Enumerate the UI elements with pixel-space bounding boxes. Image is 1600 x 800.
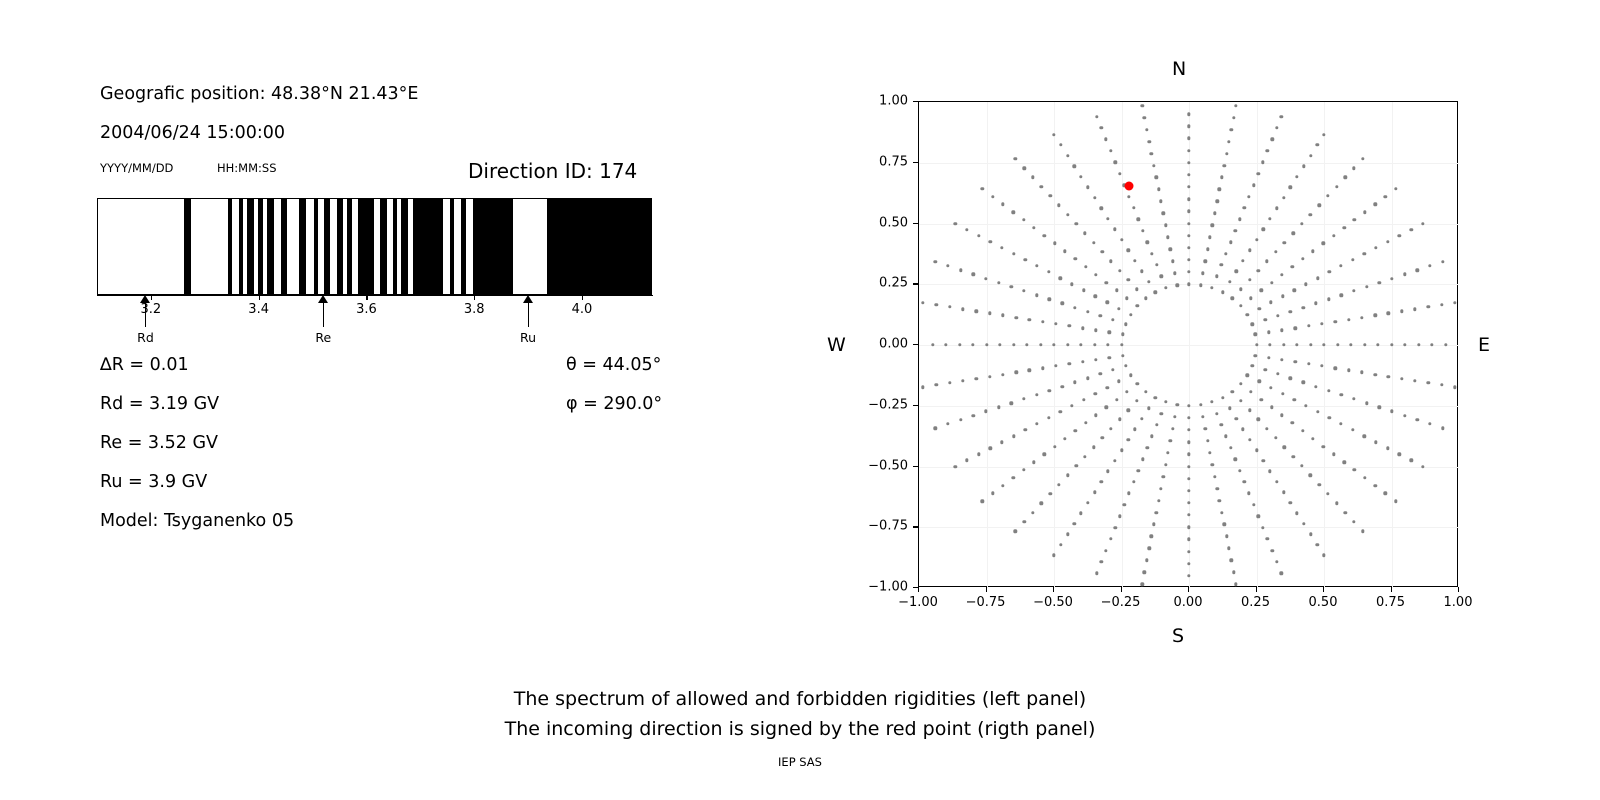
- geographic-position-label: Geografic position: 48.38°N 21.43°E: [100, 84, 418, 104]
- direction-point: [1113, 459, 1116, 462]
- direction-point: [965, 228, 968, 231]
- direction-point: [1280, 358, 1283, 361]
- direction-point: [1309, 533, 1312, 536]
- direction-point: [1100, 126, 1103, 129]
- direction-point: [1152, 164, 1155, 167]
- direction-point: [988, 312, 991, 315]
- direction-point: [1403, 273, 1406, 276]
- direction-point: [1231, 297, 1234, 300]
- direction-point: [1022, 289, 1025, 292]
- forbidden-band: [324, 199, 330, 294]
- direction-point: [1294, 326, 1297, 329]
- direction-point: [1140, 583, 1143, 586]
- direction-point: [1225, 535, 1228, 538]
- direction-point: [1361, 529, 1364, 532]
- compass-label-south: S: [1172, 625, 1184, 647]
- direction-point: [1146, 446, 1149, 449]
- direction-point: [965, 459, 968, 462]
- direction-point: [1187, 197, 1190, 200]
- direction-point: [1270, 549, 1273, 552]
- direction-point: [1074, 222, 1077, 225]
- param-re: Re = 3.52 GV: [100, 433, 218, 453]
- param-delta-r: ∆R = 0.01: [100, 355, 189, 375]
- direction-point: [1243, 480, 1246, 483]
- direction-point: [975, 377, 978, 380]
- direction-point: [1257, 307, 1260, 310]
- param-phi: φ = 290.0°: [566, 394, 662, 414]
- polar-x-tick-label: −0.75: [966, 595, 1006, 610]
- direction-point: [1104, 138, 1107, 141]
- direction-point: [1187, 210, 1190, 213]
- direction-point: [1173, 272, 1176, 275]
- marker-arrow-ru: [523, 295, 534, 327]
- polar-x-tick-label: −0.25: [1101, 595, 1141, 610]
- direction-point: [1073, 306, 1076, 309]
- direction-point: [1300, 222, 1303, 225]
- direction-point: [1249, 296, 1252, 299]
- direction-point: [1159, 487, 1162, 490]
- direction-point: [1048, 389, 1051, 392]
- direction-point: [1054, 322, 1057, 325]
- direction-point: [1159, 200, 1162, 203]
- direction-point: [1421, 465, 1424, 468]
- direction-point: [1121, 333, 1124, 336]
- direction-point: [1150, 535, 1153, 538]
- spectrum-tick-label: 4.0: [572, 302, 593, 317]
- direction-point: [1441, 260, 1444, 263]
- direction-point: [1222, 523, 1225, 526]
- direction-point: [1066, 474, 1069, 477]
- direction-point: [1215, 275, 1218, 278]
- direction-point: [1394, 187, 1397, 190]
- direction-point: [1109, 537, 1112, 540]
- direction-point: [1386, 240, 1389, 243]
- direction-point: [1041, 320, 1044, 323]
- direction-point: [1440, 383, 1443, 386]
- direction-point: [1352, 289, 1355, 292]
- polar-x-tick: [918, 587, 919, 592]
- direction-point: [1106, 343, 1109, 346]
- polar-y-tick: [913, 162, 918, 163]
- direction-point: [1262, 228, 1265, 231]
- direction-point: [1211, 224, 1214, 227]
- direction-point: [1307, 324, 1310, 327]
- direction-point: [1187, 161, 1190, 164]
- direction-point: [1135, 399, 1138, 402]
- direction-point: [1280, 115, 1283, 118]
- direction-point: [1208, 236, 1211, 239]
- direction-point: [1413, 307, 1416, 310]
- direction-point: [1317, 204, 1320, 207]
- forbidden-band: [281, 199, 287, 294]
- direction-point: [1043, 453, 1046, 456]
- direction-point: [1094, 295, 1097, 298]
- direction-point: [1000, 246, 1003, 249]
- direction-point: [1417, 343, 1420, 346]
- direction-point: [1187, 440, 1190, 443]
- direction-point: [1280, 414, 1283, 417]
- direction-point: [1390, 343, 1393, 346]
- direction-point: [1220, 176, 1223, 179]
- direction-point: [1229, 559, 1232, 562]
- direction-point: [1263, 368, 1266, 371]
- direction-point: [1105, 301, 1108, 304]
- direction-point: [1387, 375, 1390, 378]
- direction-point: [1427, 381, 1430, 384]
- polar-y-tick-label: −0.25: [868, 397, 908, 412]
- direction-point: [1282, 343, 1285, 346]
- direction-point: [980, 499, 983, 502]
- direction-point: [1275, 480, 1278, 483]
- direction-point: [1247, 195, 1250, 198]
- direction-point: [1328, 270, 1331, 273]
- direction-point: [1384, 492, 1387, 495]
- direction-point: [958, 343, 961, 346]
- direction-point: [1066, 533, 1069, 536]
- forbidden-band: [247, 199, 254, 294]
- direction-point: [953, 465, 956, 468]
- direction-point: [1048, 194, 1051, 197]
- direction-point: [1166, 451, 1169, 454]
- direction-point: [1032, 226, 1035, 229]
- direction-point: [1137, 218, 1140, 221]
- direction-point: [1373, 314, 1376, 317]
- direction-point: [944, 343, 947, 346]
- direction-point: [1040, 502, 1043, 505]
- direction-point: [1039, 343, 1042, 346]
- direction-point: [1283, 446, 1286, 449]
- polar-y-tick-label: 0.25: [879, 276, 908, 291]
- direction-point: [1342, 460, 1345, 463]
- direction-point: [1127, 278, 1130, 281]
- direction-point: [1400, 310, 1403, 313]
- forbidden-band: [258, 199, 263, 294]
- forbidden-band: [267, 199, 273, 294]
- direction-point: [1014, 529, 1017, 532]
- direction-point: [1270, 138, 1273, 141]
- direction-point: [1248, 408, 1251, 411]
- direction-point: [1255, 238, 1258, 241]
- direction-point: [1351, 258, 1354, 261]
- direction-point: [1187, 465, 1190, 468]
- direction-point: [1147, 280, 1150, 283]
- direction-point: [1144, 390, 1147, 393]
- direction-point: [1361, 157, 1364, 160]
- direction-point: [1066, 343, 1069, 346]
- forbidden-band: [413, 199, 443, 294]
- polar-x-tick-label: 0.50: [1309, 595, 1338, 610]
- direction-point: [1326, 492, 1329, 495]
- direction-point: [1011, 476, 1014, 479]
- direction-point: [1187, 173, 1190, 176]
- direction-point: [1248, 438, 1251, 441]
- direction-point: [1094, 358, 1097, 361]
- forbidden-band: [461, 199, 466, 294]
- forbidden-band: [473, 199, 513, 294]
- direction-point: [1084, 265, 1087, 268]
- direction-point: [1376, 343, 1379, 346]
- param-model: Model: Tsyganenko 05: [100, 511, 294, 531]
- direction-point: [1070, 404, 1073, 407]
- direction-point: [1100, 560, 1103, 563]
- direction-point: [1343, 511, 1346, 514]
- direction-point: [1187, 404, 1190, 407]
- direction-point: [1416, 268, 1419, 271]
- direction-point: [1309, 343, 1312, 346]
- direction-point: [1187, 270, 1190, 273]
- direction-point: [1340, 293, 1343, 296]
- compass-label-east: E: [1478, 334, 1490, 356]
- direction-point: [1332, 234, 1335, 237]
- direction-point: [1241, 427, 1244, 430]
- direction-point: [1147, 406, 1150, 409]
- direction-point: [948, 305, 951, 308]
- direction-point: [1260, 398, 1263, 401]
- direction-point: [1106, 217, 1109, 220]
- direction-point: [946, 422, 949, 425]
- direction-point: [1295, 512, 1298, 515]
- direction-point: [1094, 329, 1097, 332]
- direction-point: [1289, 501, 1292, 504]
- direction-point: [961, 307, 964, 310]
- direction-point: [1092, 446, 1095, 449]
- direction-point: [1218, 188, 1221, 191]
- direction-point: [1086, 501, 1089, 504]
- direction-point: [1155, 263, 1158, 266]
- direction-point: [1378, 406, 1381, 409]
- direction-point: [1012, 252, 1015, 255]
- direction-point: [1187, 234, 1190, 237]
- direction-point: [1086, 310, 1089, 313]
- direction-point: [1127, 438, 1130, 441]
- direction-point: [1079, 512, 1082, 515]
- direction-point: [1147, 547, 1150, 550]
- direction-point: [1363, 252, 1366, 255]
- direction-point: [1255, 343, 1258, 346]
- direction-point: [1220, 511, 1223, 514]
- direction-point: [1322, 554, 1325, 557]
- direction-point: [1301, 306, 1304, 309]
- direction-point: [1403, 343, 1406, 346]
- direction-point: [1255, 449, 1258, 452]
- direction-point: [948, 381, 951, 384]
- direction-point: [1074, 257, 1077, 260]
- polar-y-tick: [913, 344, 918, 345]
- direction-point: [1421, 222, 1424, 225]
- direction-point: [1160, 412, 1163, 415]
- direction-point: [1187, 185, 1190, 188]
- direction-point: [1228, 406, 1231, 409]
- direction-point: [1125, 296, 1128, 299]
- direction-point: [1155, 423, 1158, 426]
- spectrum-axis-line: [97, 295, 653, 296]
- direction-point: [1289, 310, 1292, 313]
- direction-point: [1314, 385, 1317, 388]
- direction-point: [1222, 164, 1225, 167]
- marker-label-re: Re: [315, 330, 331, 345]
- direction-point: [1066, 154, 1069, 157]
- direction-point: [1035, 264, 1038, 267]
- direction-point: [1127, 492, 1130, 495]
- direction-point: [1074, 429, 1077, 432]
- direction-point: [1373, 373, 1376, 376]
- direction-point: [1232, 571, 1235, 574]
- direction-point: [1301, 257, 1304, 260]
- direction-point: [1316, 410, 1319, 413]
- direction-point: [1012, 343, 1015, 346]
- direction-point: [1309, 474, 1312, 477]
- direction-point: [1154, 291, 1157, 294]
- direction-point: [1132, 480, 1135, 483]
- direction-point: [1201, 415, 1204, 418]
- direction-point: [1100, 480, 1103, 483]
- direction-point: [1024, 258, 1027, 261]
- forbidden-band: [547, 199, 652, 294]
- direction-point: [1187, 562, 1190, 565]
- direction-point: [1281, 392, 1284, 395]
- direction-point: [961, 379, 964, 382]
- direction-point: [1146, 241, 1149, 244]
- direction-point: [1187, 246, 1190, 249]
- direction-point: [1289, 377, 1292, 380]
- date-format-hint: YYYY/MM/DD: [100, 161, 173, 175]
- direction-point: [1428, 264, 1431, 267]
- direction-point: [1233, 229, 1236, 232]
- direction-point: [1022, 520, 1025, 523]
- direction-point: [1150, 252, 1153, 255]
- direction-point: [1335, 185, 1338, 188]
- direction-point: [1140, 270, 1143, 273]
- direction-point: [1444, 343, 1447, 346]
- direction-point: [1227, 140, 1230, 143]
- direction-point: [1014, 157, 1017, 160]
- direction-point: [1239, 382, 1242, 385]
- direction-point: [1068, 324, 1071, 327]
- direction-point: [1363, 434, 1366, 437]
- direction-point: [1160, 275, 1163, 278]
- direction-point: [1144, 297, 1147, 300]
- direction-point: [980, 187, 983, 190]
- direction-point: [1059, 543, 1062, 546]
- direction-point: [1135, 287, 1138, 290]
- direction-point: [1280, 273, 1283, 276]
- direction-point: [1235, 417, 1238, 420]
- polar-y-tick: [913, 405, 918, 406]
- direction-point: [1094, 392, 1097, 395]
- direction-point: [935, 383, 938, 386]
- direction-point: [1014, 371, 1017, 374]
- direction-point: [1187, 428, 1190, 431]
- direction-point: [991, 195, 994, 198]
- direction-point: [1115, 398, 1118, 401]
- direction-point: [1365, 285, 1368, 288]
- direction-point: [1302, 522, 1305, 525]
- direction-point: [1301, 381, 1304, 384]
- direction-point: [1360, 316, 1363, 319]
- direction-point: [1031, 176, 1034, 179]
- direction-point: [1225, 152, 1228, 155]
- direction-point: [1261, 526, 1264, 529]
- direction-point: [1001, 484, 1004, 487]
- direction-point: [1098, 372, 1101, 375]
- direction-point: [1314, 302, 1317, 305]
- direction-point: [1327, 298, 1330, 301]
- direction-point: [1022, 468, 1025, 471]
- direction-point: [1124, 323, 1127, 326]
- direction-point: [1257, 418, 1260, 421]
- direction-point: [1257, 172, 1260, 175]
- spectrum-tick: [474, 295, 475, 300]
- direction-point: [1351, 428, 1354, 431]
- direction-point: [997, 406, 1000, 409]
- direction-point: [1063, 250, 1066, 253]
- selected-direction-point: [1124, 182, 1133, 191]
- direction-point: [1081, 360, 1084, 363]
- direction-point: [1171, 427, 1174, 430]
- direction-point: [1108, 356, 1111, 359]
- direction-point: [1101, 250, 1104, 253]
- direction-point: [1342, 226, 1345, 229]
- datetime-label: 2004/06/24 15:00:00: [100, 123, 285, 143]
- direction-point: [1111, 368, 1114, 371]
- direction-point: [1157, 188, 1160, 191]
- direction-point: [1260, 289, 1263, 292]
- polar-y-tick-label: 0.00: [879, 337, 908, 352]
- time-format-hint: HH:MM:SS: [217, 161, 277, 175]
- direction-point: [977, 234, 980, 237]
- direction-point: [1123, 503, 1126, 506]
- direction-point: [1215, 412, 1218, 415]
- direction-point: [1105, 386, 1108, 389]
- direction-point: [1280, 572, 1283, 575]
- direction-point: [1363, 211, 1366, 214]
- direction-point: [1276, 372, 1279, 375]
- direction-point: [1390, 410, 1393, 413]
- direction-point: [1101, 436, 1104, 439]
- direction-point: [1060, 385, 1063, 388]
- direction-point: [1032, 460, 1035, 463]
- direction-point: [1145, 559, 1148, 562]
- direction-point: [1047, 270, 1050, 273]
- direction-point: [1048, 492, 1051, 495]
- direction-point: [1022, 397, 1025, 400]
- direction-point: [1084, 421, 1087, 424]
- direction-point: [1125, 390, 1128, 393]
- direction-point: [1274, 250, 1277, 253]
- direction-point: [1339, 264, 1342, 267]
- direction-point: [921, 385, 924, 388]
- polar-x-tick-label: 0.75: [1376, 595, 1405, 610]
- direction-point: [1079, 175, 1082, 178]
- marker-arrow-re: [318, 295, 329, 327]
- direction-point: [1199, 283, 1202, 286]
- direction-point: [1440, 303, 1443, 306]
- direction-point: [1001, 314, 1004, 317]
- direction-point: [1164, 400, 1167, 403]
- direction-point: [1117, 307, 1120, 310]
- direction-point: [1229, 446, 1232, 449]
- polar-y-tick: [913, 101, 918, 102]
- direction-point: [1373, 203, 1376, 206]
- direction-point: [1239, 287, 1242, 290]
- spectrum-tick: [582, 295, 583, 300]
- direction-point: [1427, 305, 1430, 308]
- polar-y-tick-label: −0.50: [868, 458, 908, 473]
- direction-point: [1073, 164, 1076, 167]
- direction-point: [998, 343, 1001, 346]
- direction-point: [1073, 381, 1076, 384]
- direction-point: [1204, 260, 1207, 263]
